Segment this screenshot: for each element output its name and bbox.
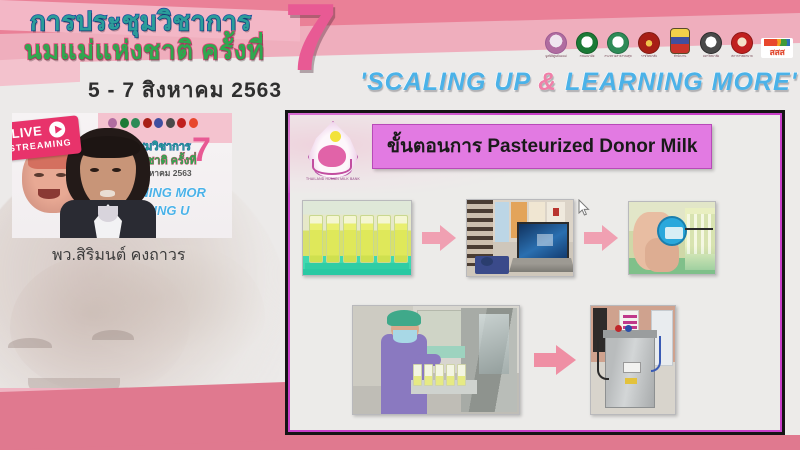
milk-bottle: [360, 215, 374, 263]
logo-caption: สำนักงาน: [674, 55, 687, 58]
red-institution-logo: สภาการพยาบาล: [729, 26, 755, 58]
background-baby-face: [10, 255, 190, 395]
conference-number-7: 7: [284, 0, 337, 86]
department-of-health-logo: กระทรวงสาธารณสุข: [605, 26, 631, 58]
arrow-right-icon: [534, 345, 576, 375]
milk-bottle: [413, 364, 422, 386]
arrow-right-icon: [584, 225, 618, 251]
thai-pediatric-society-logo: ราชวิทยาลัย: [636, 26, 662, 58]
slogan-suffix: LEARNING MORE': [557, 68, 797, 96]
conference-date: 5 - 7 สิงหาคม 2563: [88, 74, 282, 107]
speaker-eye-left: [90, 168, 99, 172]
slogan-prefix: 'SCALING UP: [360, 68, 538, 96]
thermometer-probe-wire: [685, 228, 713, 230]
speaker-eye-right: [112, 168, 121, 172]
blue-hose: [651, 336, 661, 372]
poster-baby-eye-left: [34, 173, 44, 177]
milk-crate-shelf: [305, 263, 409, 269]
photo-milk-bottles-crates: [302, 200, 412, 276]
university-mark: [700, 32, 722, 54]
photo-laptop-workstation: [466, 199, 574, 277]
organization-logos: มูลนิธิศูนย์นมแม่ กรมอนามัย กระทรวงสาธาร…: [543, 26, 794, 58]
royal-emblem-mark: [670, 28, 690, 54]
conference-title-line2: นมแม่แห่งชาติ ครั้งที่: [24, 37, 264, 63]
logo-caption: มูลนิธิศูนย์นมแม่: [545, 55, 566, 58]
poster-baby-mouth: [38, 189, 60, 199]
panel-title: ขั้นตอนการ Pasteurized Donor Milk: [372, 124, 712, 169]
sss-mark: สสส: [761, 38, 793, 58]
nurse-surgical-cap: [387, 310, 421, 326]
thermometer-illustration: [629, 202, 715, 274]
milk-bottle: [446, 364, 455, 386]
computer-mouse: [481, 257, 493, 266]
panel-right-margin: [785, 110, 800, 435]
conference-title-block: การประชุมวิชาการ นมแม่แห่งชาติ ครั้งที่ …: [22, 4, 292, 104]
poster-logo-8: [189, 118, 198, 128]
poster-logo-5: [154, 118, 163, 128]
red-institution-mark: [731, 32, 753, 54]
speaker-name-label: พว.สิริมนต์ คงถาวร: [52, 243, 185, 268]
milk-bottle: [435, 364, 444, 386]
royal-patronage-mark: [545, 32, 567, 54]
milk-bottle: [457, 364, 466, 386]
flow-row-2: [352, 305, 676, 415]
thaihealth-sss-logo: สสส: [760, 26, 794, 58]
poster-logo-1: [108, 118, 117, 128]
droplet-logo-caption: THAILAND HUMAN MILK BANK: [304, 177, 362, 181]
milk-bottle-rack: [685, 208, 716, 270]
photo-pasteurizer-machine: [590, 305, 676, 415]
speaker-fringe: [76, 136, 140, 158]
laptop-illustration: [467, 200, 573, 276]
laptop-keyboard: [509, 258, 574, 272]
slide-content-panel: THAILAND HUMAN MILK BANK ขั้นตอนการ Past…: [285, 110, 785, 435]
machine-blue-knob: [625, 325, 632, 332]
photo-nurse-loading-bottles: [352, 305, 520, 415]
flow-row-1: [302, 199, 716, 277]
milk-bottle: [326, 215, 340, 263]
speaker-mouth: [100, 190, 115, 197]
speaker-collar: [98, 206, 118, 222]
machine-display: [623, 362, 641, 373]
logo-caption: มหาวิทยาลัย: [703, 55, 719, 58]
bottle-row: [413, 364, 466, 386]
milk-bottle: [343, 215, 357, 263]
milk-bottle: [377, 215, 391, 263]
live-streaming-badge: LIVE STREAMING: [12, 115, 82, 161]
digital-thermometer-device: [657, 216, 687, 246]
conference-title-line1: การประชุมวิชาการ: [30, 8, 252, 34]
health-dept-mark: [607, 32, 629, 54]
wall-poster-1: [495, 202, 509, 242]
poster-number-7: 7: [192, 133, 211, 167]
nurse-face-mask: [393, 330, 417, 343]
logo-caption: สภาการพยาบาล: [731, 55, 752, 58]
royal-emblem-logo: สำนักงาน: [667, 26, 693, 58]
logo-caption: ราชวิทยาลัย: [641, 55, 657, 58]
conference-slogan: 'SCALING UP & LEARNING MORE': [360, 68, 798, 97]
background-baby-eye-right: [92, 330, 134, 340]
slogan-ampersand: &: [538, 68, 557, 96]
background-baby-eye-left: [8, 338, 52, 348]
machine-yellow-label: [625, 378, 637, 384]
pediatric-mark: [638, 32, 660, 54]
milk-bottle: [309, 215, 323, 263]
droplet-cradling-arm: [312, 159, 352, 175]
ministry-mark: [576, 32, 598, 54]
live-video-thumbnail[interactable]: การประชุมวิชาการ นมแม่แห่งชาติ ครั้งที่ …: [12, 113, 232, 238]
footer-pink-wedge: [0, 382, 300, 450]
milk-crate-illustration: [303, 201, 411, 275]
milk-bottle-group: [309, 215, 408, 263]
mouse-pointer: [578, 199, 590, 217]
live-badge-top-text: LIVE: [12, 123, 43, 141]
pasteurizer-illustration: [591, 306, 675, 414]
black-hose: [597, 340, 609, 380]
machine-red-knob: [615, 325, 622, 332]
milk-bottle: [424, 364, 433, 386]
arrow-right-icon: [422, 225, 456, 251]
milk-bottle: [394, 215, 408, 263]
poster-logo-4: [143, 118, 152, 128]
laptop-screen: [517, 222, 569, 258]
sss-text: สสส: [761, 48, 793, 57]
logo-caption: กรมอนามัย: [580, 55, 595, 58]
poster-logo-row: [108, 118, 198, 128]
university-seal-logo: มหาวิทยาลัย: [698, 26, 724, 58]
nurse-illustration: [353, 306, 519, 414]
ministry-of-public-health-logo: กรมอนามัย: [574, 26, 600, 58]
poster-logo-7: [177, 118, 186, 128]
human-milk-bank-droplet-logo: THAILAND HUMAN MILK BANK: [302, 119, 364, 189]
slide-screenshot: การประชุมวิชาการ นมแม่แห่งชาติ ครั้งที่ …: [0, 0, 800, 450]
poster-logo-2: [120, 118, 129, 128]
logo-caption: กระทรวงสาธารณสุข: [604, 55, 631, 58]
droplet-yellow-dot: [330, 131, 341, 142]
royal-patronage-logo: มูลนิธิศูนย์นมแม่: [543, 26, 569, 58]
photo-handheld-thermometer: [628, 201, 716, 275]
poster-logo-6: [166, 118, 175, 128]
hood-glass-sash: [479, 314, 509, 374]
sss-dots-icon: [764, 39, 790, 46]
poster-logo-3: [131, 118, 140, 128]
play-triangle-icon: [48, 121, 66, 139]
